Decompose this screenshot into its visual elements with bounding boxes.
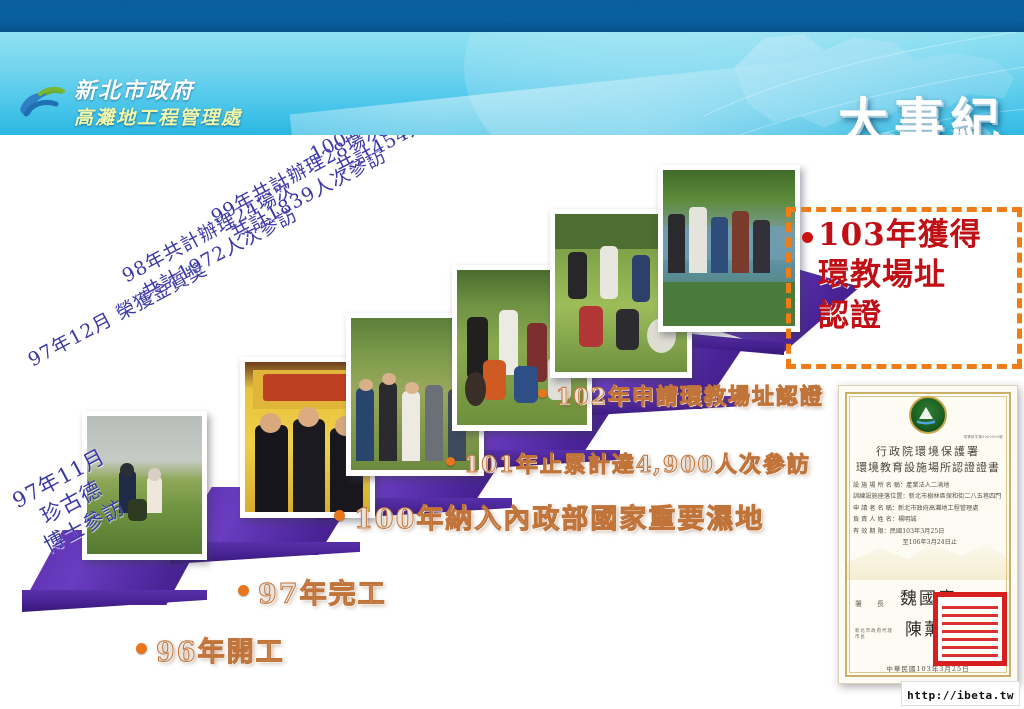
org-name-line2: 高灘地工程管理處: [74, 109, 242, 128]
slide-header: 新北市政府 高灘地工程管理處 大事紀: [0, 32, 1024, 135]
certificate-image: 環署綜字第0000000號 行政院環境保護署 環境教育設施場所認證證書 設 施 …: [838, 385, 1018, 684]
org-logo: 新北市政府 高灘地工程管理處: [16, 80, 242, 128]
highlight-text-103: 103年獲得 環教場址 認證: [818, 215, 1008, 336]
timeline-caption-97: 97年完工: [238, 572, 387, 611]
bullet-dot-icon: [238, 585, 249, 596]
bullet-dot-icon: [802, 232, 813, 243]
timeline-caption-100: 100年納入內政部國家重要濕地: [334, 497, 764, 536]
timeline-caption-101: 101年止累計達4,900人次參訪: [446, 447, 811, 479]
caption-text: 96年開工: [156, 630, 285, 669]
epa-emblem-icon: [909, 396, 947, 434]
wave-bird-logo-icon: [16, 80, 66, 128]
caption-text: 97年完工: [258, 572, 387, 611]
caption-text: 102年申請環教場址認證: [556, 379, 824, 411]
signature-label-2: 新北市政府代理市長: [855, 629, 893, 640]
bullet-dot-icon: [136, 643, 147, 654]
presentation-slide: 新北市政府 高灘地工程管理處 大事紀: [0, 0, 1024, 709]
certificate-field: 設 施 場 所 名 稱：產業法人二湳地: [853, 480, 1007, 491]
timeline-caption-96: 96年開工: [136, 630, 285, 669]
certificate-field: 訓練設施座落位置：新北市樹林區保和街二八五巷四門: [853, 491, 1007, 502]
timeline-caption-102: 102年申請環教場址認證: [538, 379, 824, 411]
caption-text: 100年納入內政部國家重要濕地: [354, 497, 764, 536]
site-watermark: http://ibeta.tw: [901, 681, 1020, 706]
official-red-seal-icon: [933, 592, 1007, 666]
timeline-stage: 97年11月 珍古德 博士參訪 97年12月 榮獲金質獎 98年共計辦理24場次…: [0, 135, 1024, 709]
photo-panel-6: [658, 165, 800, 332]
certificate-field: 負 責 人 姓 名：楊明誠: [853, 514, 1007, 525]
page-title: 大事紀: [838, 82, 1006, 135]
bullet-dot-icon: [446, 457, 455, 466]
timeline-note-101: 101年共計辦理12場次 共計635人次參訪: [414, 135, 618, 136]
org-name-line1: 新北市政府: [74, 80, 242, 102]
certificate-agency-line2: 環境教育設施場所認證證書: [839, 459, 1017, 475]
timeline-note-100: 100年共計辦理9場次 共計454人次參訪: [306, 135, 499, 188]
watermark-url: http://ibeta.tw: [907, 689, 1014, 702]
caption-text: 101年止累計達4,900人次參訪: [464, 447, 811, 479]
certificate-agency-line1: 行政院環境保護署: [839, 443, 1017, 459]
bullet-dot-icon: [334, 510, 345, 521]
certificate-fields: 設 施 場 所 名 稱：產業法人二湳地 訓練設施座落位置：新北市樹林區保和街二八…: [853, 480, 1007, 549]
signature-label-1: 署 長: [855, 599, 888, 609]
top-band: [0, 0, 1024, 32]
certificate-date: 中華民國103年3月25日: [839, 663, 1017, 673]
photo-image-riverside-group: [663, 170, 795, 326]
certificate-field: 有 效 期 限：民國103年3月25日: [853, 526, 1007, 537]
bullet-dot-icon: [538, 389, 547, 398]
certificate-doc-number: 環署綜字第0000000號: [964, 434, 1003, 439]
certificate-field: 申 請 者 名 稱：新北市政府高灘地工程管理處: [853, 503, 1007, 514]
